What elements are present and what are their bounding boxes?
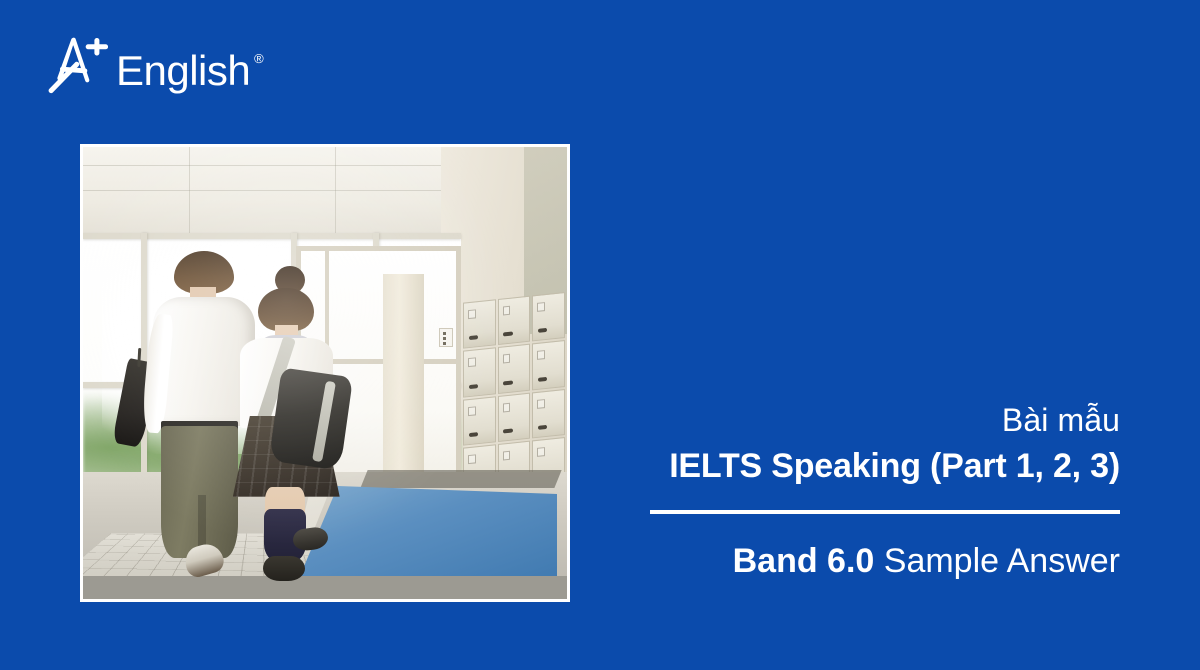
band-score-label: Band 6.0 [733, 542, 875, 580]
window-frame-rail [83, 233, 461, 239]
locker-cell [463, 347, 496, 397]
registered-trademark-icon: ® [254, 52, 263, 65]
brand-logo[interactable]: English® [42, 34, 250, 96]
light-switch-icon [439, 328, 453, 347]
ceiling-seam [335, 147, 336, 237]
locker-cell [532, 388, 565, 438]
promo-headline: IELTS Speaking (Part 1, 2, 3) [650, 444, 1120, 488]
brand-wordmark: English® [116, 50, 250, 92]
sample-answer-label: Sample Answer [874, 542, 1120, 580]
locker-cell [532, 292, 565, 342]
girl-school-bag [268, 367, 352, 470]
hero-photo [83, 147, 567, 599]
locker-cell [498, 392, 531, 442]
promo-text-block: Bài mẫu IELTS Speaking (Part 1, 2, 3) Ba… [650, 400, 1120, 583]
promo-tagline: Bài mẫu [650, 400, 1120, 440]
hero-photo-frame [80, 144, 570, 602]
locker-cell [463, 395, 496, 445]
promo-subline: Band 6.0 Sample Answer [650, 540, 1120, 583]
locker-cell [498, 344, 531, 394]
girl-shoe [263, 556, 305, 581]
locker-cell [463, 299, 496, 349]
mat-shadow [360, 470, 561, 488]
brand-word-text: English [116, 47, 250, 94]
horizontal-divider [650, 510, 1120, 514]
promo-banner: English® [0, 0, 1200, 670]
locker-cell [498, 295, 531, 345]
a-plus-mark-icon [42, 34, 108, 96]
locker-cell [532, 340, 565, 390]
ceiling-seam [189, 147, 190, 237]
student-girl [228, 269, 344, 581]
